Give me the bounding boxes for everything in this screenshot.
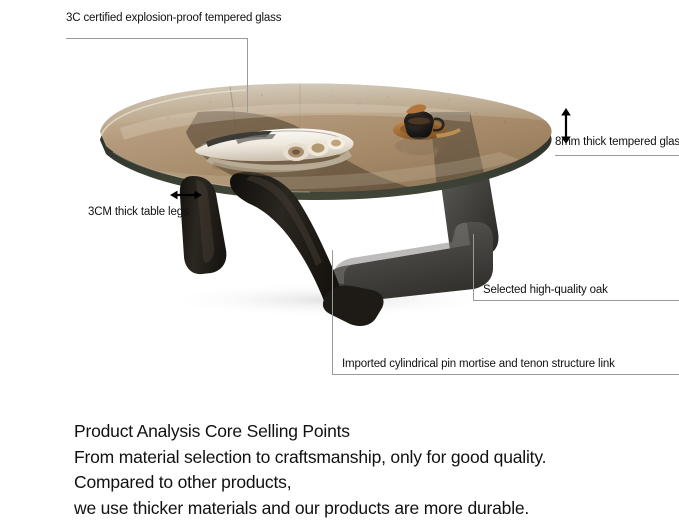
annotation-glass-thickness-leader-h [555, 155, 679, 156]
copy-line-2: Compared to other products, [74, 470, 674, 496]
annotation-tempered-glass-leader-v [247, 38, 248, 114]
glass-tabletop [98, 78, 560, 200]
leg-center [230, 172, 384, 326]
annotation-mortise-label: Imported cylindrical pin mortise and ten… [342, 358, 615, 371]
floor-shadow [160, 282, 500, 318]
selling-points-copy: Product Analysis Core Selling Points Fro… [74, 419, 674, 521]
annotation-mortise-leader-h [332, 374, 679, 375]
annotation-oak-label: Selected high-quality oak [483, 284, 608, 297]
annotation-tempered-glass-label: 3C certified explosion-proof tempered gl… [66, 12, 281, 25]
copy-heading: Product Analysis Core Selling Points [74, 419, 674, 445]
annotation-table-legs-label: 3CM thick table legs [88, 206, 189, 219]
magazines [195, 129, 353, 177]
annotation-glass-thickness-label: 8mm thick tempered glass [555, 136, 679, 149]
product-annotation-page: 3C certified explosion-proof tempered gl… [0, 0, 679, 532]
copy-line-3: we use thicker materials and our product… [74, 496, 674, 522]
annotation-mortise-leader-v [332, 250, 333, 375]
annotation-tempered-glass-leader-h [66, 38, 248, 39]
annotation-oak-leader-h [473, 300, 679, 301]
annotation-oak-leader-v [473, 234, 474, 301]
coffee-cup-and-saucer [393, 104, 461, 164]
copy-line-1: From material selection to craftsmanship… [74, 445, 674, 471]
table-leg-thickness-arrow-icon [170, 188, 202, 202]
